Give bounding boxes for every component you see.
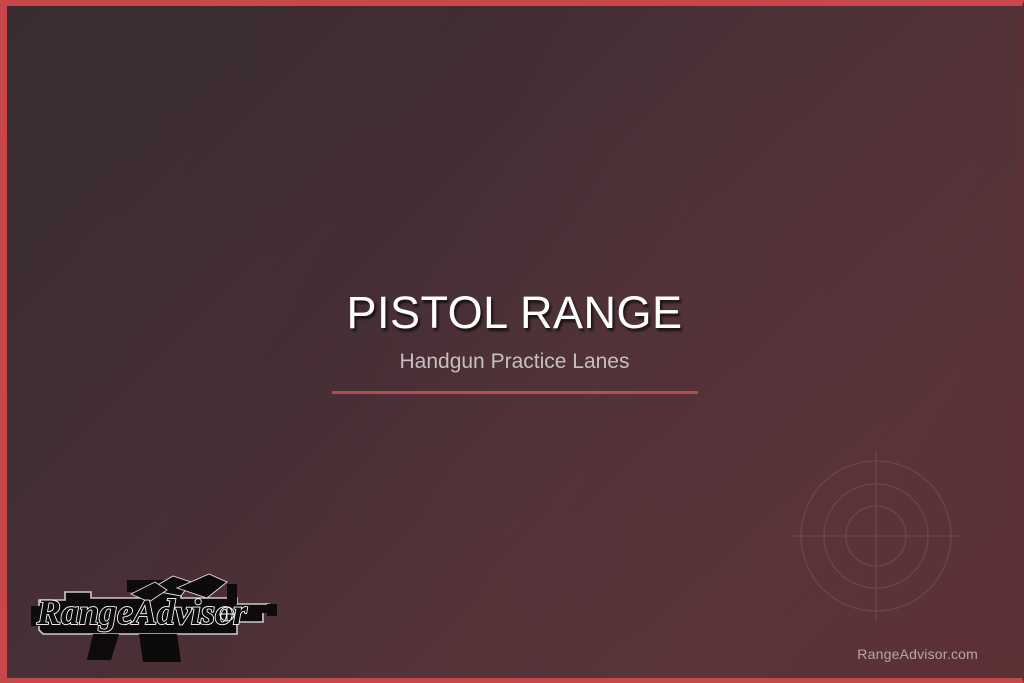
presentation-slide: PISTOL RANGE Handgun Practice Lanes <box>0 0 1024 683</box>
target-reticle-icon <box>790 450 962 622</box>
page-subtitle: Handgun Practice Lanes <box>7 350 1022 373</box>
title-divider <box>332 391 698 394</box>
footer-website: RangeAdvisor.com <box>857 646 978 662</box>
page-title: PISTOL RANGE <box>7 289 1022 336</box>
brand-logo: RangeAdvisor <box>31 562 279 662</box>
logo-wordmark: RangeAdvisor <box>36 592 248 632</box>
scope-reticle-icon <box>220 607 234 621</box>
title-block: PISTOL RANGE Handgun Practice Lanes <box>7 289 1022 394</box>
